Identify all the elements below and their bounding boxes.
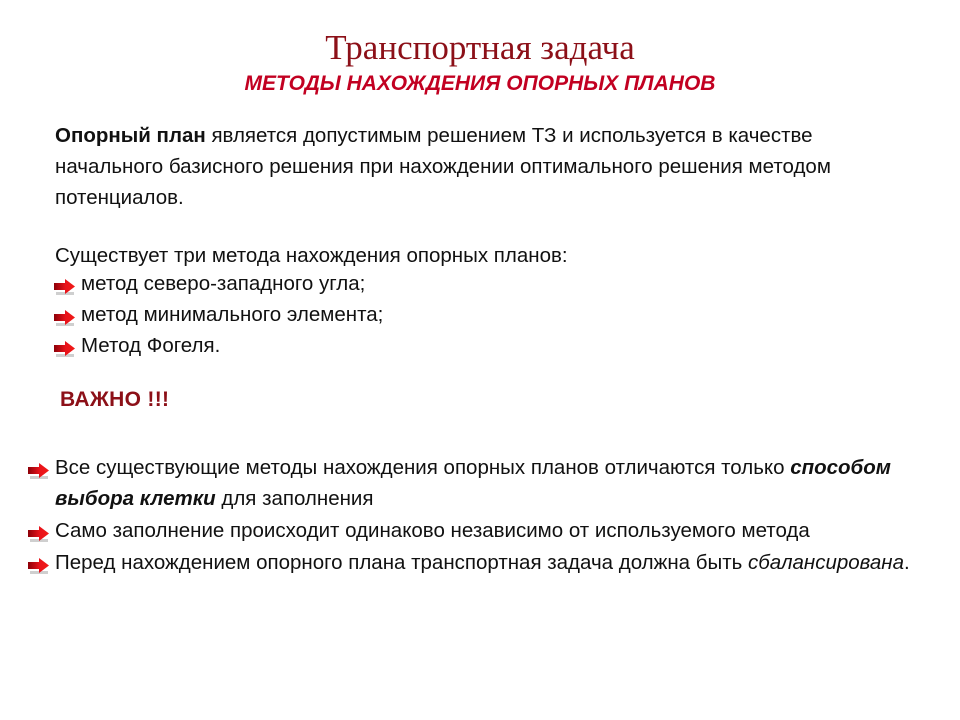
intro-paragraph: Опорный план является допустимым решение…: [55, 120, 885, 213]
list-item-label: метод северо-западного угла;: [81, 268, 814, 299]
red-block-arrow-right-icon: [54, 306, 76, 324]
list-item-label: Перед нахождением опорного плана транспо…: [55, 547, 953, 578]
intro-bold-lead: Опорный план: [55, 124, 206, 147]
page-title: Транспортная задача: [0, 28, 960, 68]
page-subtitle: МЕТОДЫ НАХОЖДЕНИЯ ОПОРНЫХ ПЛАНОВ: [0, 71, 960, 97]
list-item: Перед нахождением опорного плана транспо…: [28, 547, 953, 578]
item-prefix: Все существующие методы нахождения опорн…: [55, 456, 790, 479]
list-item-label: Все существующие методы нахождения опорн…: [55, 452, 953, 514]
list-item: метод северо-западного угла;: [54, 268, 814, 299]
red-block-arrow-right-icon: [54, 275, 76, 293]
list-item: метод минимального элемента;: [54, 299, 814, 330]
item-prefix: Само заполнение происходит одинаково нез…: [55, 519, 810, 542]
methods-lead-text: Существует три метода нахождения опорных…: [55, 240, 755, 271]
red-block-arrow-right-icon: [28, 459, 50, 477]
item-emphasis: сбалансирована: [748, 551, 904, 574]
red-block-arrow-right-icon: [28, 554, 50, 572]
important-heading: ВАЖНО !!!: [60, 386, 169, 414]
list-item: Все существующие методы нахождения опорн…: [28, 452, 953, 514]
list-item-label: метод минимального элемента;: [81, 299, 814, 330]
title-block: Транспортная задача МЕТОДЫ НАХОЖДЕНИЯ ОП…: [0, 28, 960, 97]
slide-canvas: Транспортная задача МЕТОДЫ НАХОЖДЕНИЯ ОП…: [0, 0, 960, 720]
list-item-label: Метод Фогеля.: [81, 330, 814, 361]
list-item-label: Само заполнение происходит одинаково нез…: [55, 515, 953, 546]
red-block-arrow-right-icon: [28, 522, 50, 540]
item-suffix: .: [904, 551, 910, 574]
item-suffix: для заполнения: [216, 487, 374, 510]
important-list: Все существующие методы нахождения опорн…: [28, 452, 953, 579]
list-item: Само заполнение происходит одинаково нез…: [28, 515, 953, 546]
red-block-arrow-right-icon: [54, 337, 76, 355]
list-item: Метод Фогеля.: [54, 330, 814, 361]
methods-list: метод северо-западного угла; метод ми: [54, 268, 814, 361]
item-prefix: Перед нахождением опорного плана транспо…: [55, 551, 748, 574]
